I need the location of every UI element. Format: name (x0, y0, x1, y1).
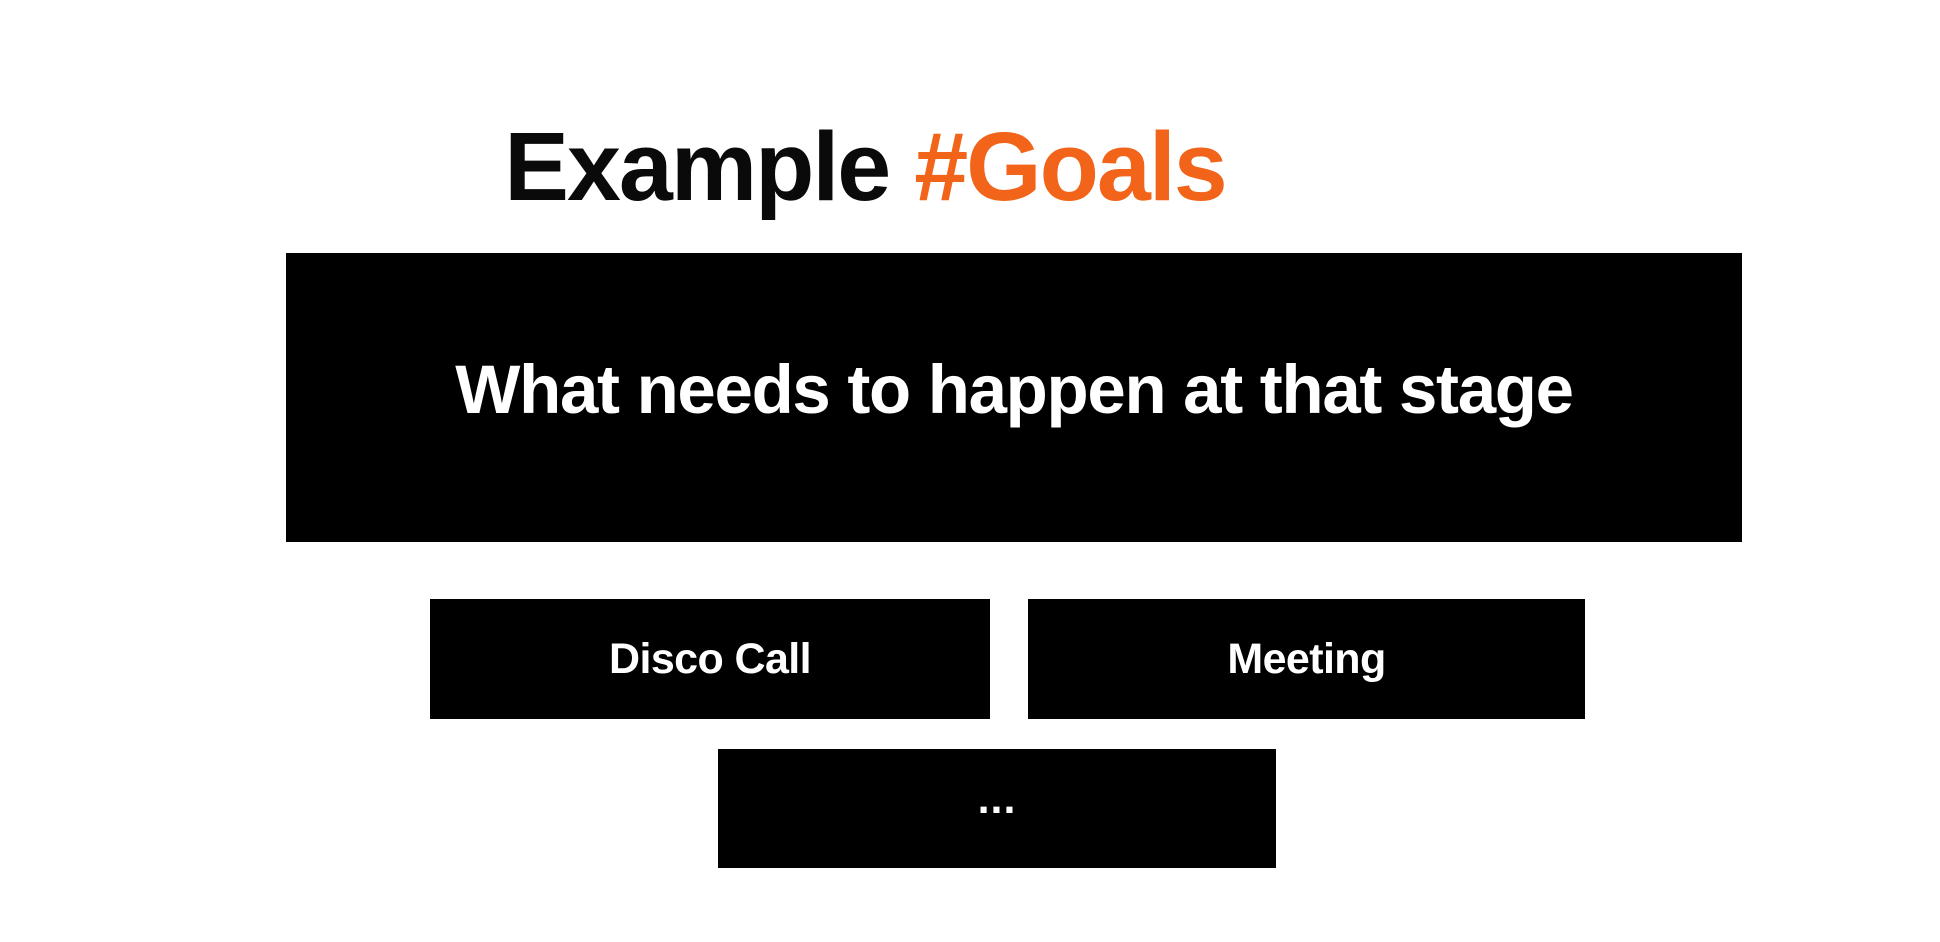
child-node-label: ... (978, 778, 1017, 821)
child-node-meeting[interactable]: Meeting (1028, 599, 1585, 719)
stage-node-box[interactable]: What needs to happen at that stage (286, 253, 1742, 542)
page-title: Example #Goals (0, 113, 1730, 222)
page-title-primary: Example (504, 112, 914, 221)
child-node-label: Disco Call (609, 638, 811, 681)
page-title-accent: #Goals (914, 112, 1226, 221)
child-node-label: Meeting (1227, 638, 1385, 681)
slide-canvas: Example #Goals What needs to happen at t… (0, 0, 1940, 942)
stage-node-label: What needs to happen at that stage (455, 355, 1572, 424)
child-node-disco-call[interactable]: Disco Call (430, 599, 990, 719)
child-node-more[interactable]: ... (718, 749, 1276, 868)
